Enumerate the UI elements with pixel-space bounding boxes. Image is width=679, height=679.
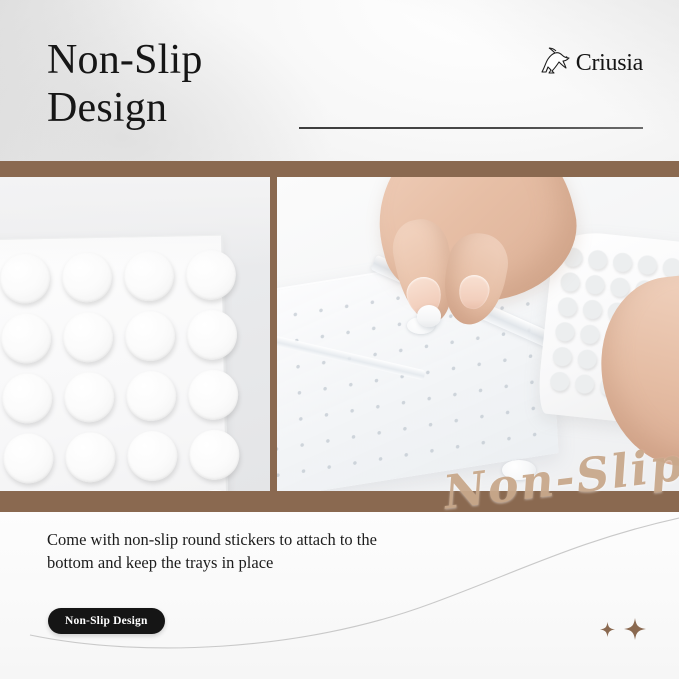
sticker-dot <box>1 313 52 364</box>
photo-glare <box>0 177 270 267</box>
header-section: Non-Slip Design Criusia <box>0 0 679 161</box>
sticker-dot <box>188 369 239 420</box>
photo-divider <box>270 177 277 491</box>
product-infographic: Non-Slip Design Criusia <box>0 0 679 679</box>
sticker-sheet <box>0 235 229 491</box>
header-divider-rule <box>299 127 643 129</box>
sticker-dot <box>63 312 114 363</box>
sparkle-decoration <box>600 618 646 645</box>
kangaroo-icon <box>539 46 573 76</box>
sticker-dot <box>65 432 116 483</box>
sticker-dot <box>2 373 53 424</box>
page-title: Non-Slip Design <box>47 36 203 132</box>
sticker-dot <box>125 311 176 362</box>
product-photo-sticker-sheet <box>0 177 270 491</box>
attached-sticker <box>502 460 536 480</box>
footer-section: Come with non-slip round stickers to att… <box>0 512 679 679</box>
sticker-dot <box>3 433 54 484</box>
top-brown-band <box>0 161 679 177</box>
status-badge: Non-Slip Design <box>48 608 165 634</box>
sparkle-icon <box>624 618 646 645</box>
caption-text: Come with non-slip round stickers to att… <box>47 528 407 574</box>
sticker-in-fingers <box>417 305 441 327</box>
sticker-dot <box>64 372 115 423</box>
sticker-dot <box>126 371 177 422</box>
sticker-dot <box>189 429 240 480</box>
brand-logo: Criusia <box>539 46 643 76</box>
sticker-dot <box>187 309 238 360</box>
bottom-brown-band <box>0 491 679 512</box>
brand-name: Criusia <box>576 51 643 75</box>
sparkle-icon <box>600 622 615 642</box>
sticker-grid <box>0 250 224 491</box>
product-photo-applying-sticker <box>277 177 679 491</box>
sticker-dot <box>190 489 241 491</box>
sticker-dot <box>127 431 178 482</box>
